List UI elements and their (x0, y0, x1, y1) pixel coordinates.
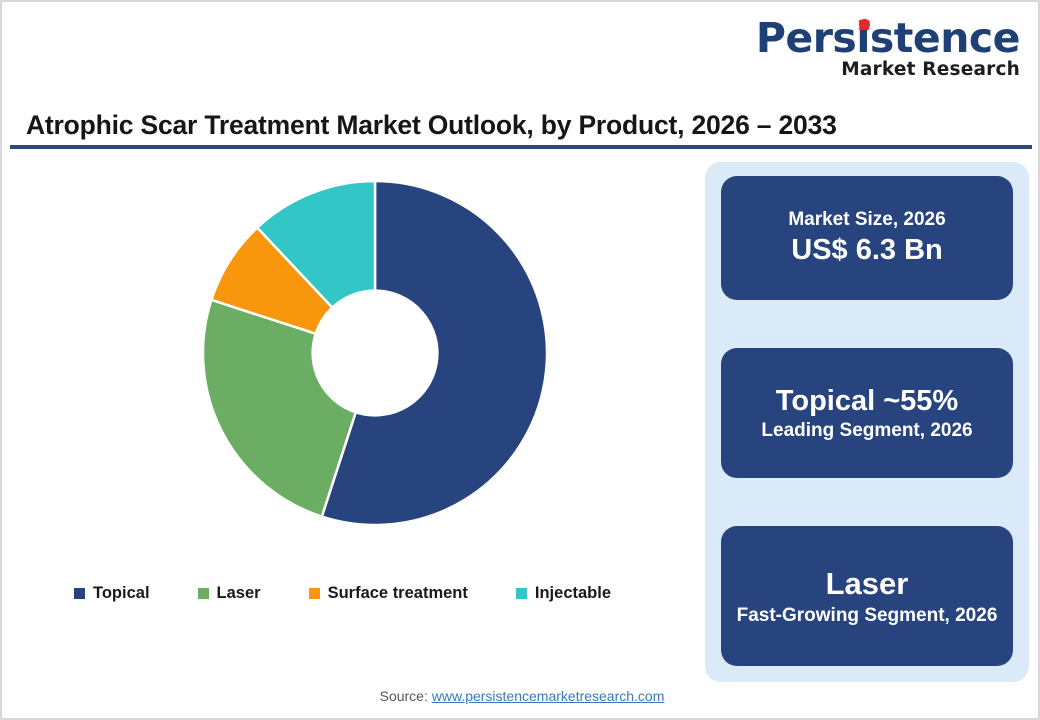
legend-label-topical: Topical (93, 584, 150, 603)
donut-svg (200, 178, 550, 528)
brand-tagline: Market Research (756, 61, 1020, 80)
source-note: Source: www.persistencemarketresearch.co… (2, 688, 1040, 704)
legend-item-topical[interactable]: Topical (74, 584, 150, 603)
brand-name: Persistence (756, 18, 1020, 59)
kpi-card-fast-growing-segment[interactable]: Laser Fast-Growing Segment, 2026 (721, 526, 1013, 666)
donut-chart (200, 178, 550, 528)
source-label: Source: (380, 688, 428, 704)
chart-area (14, 162, 694, 562)
source-link[interactable]: www.persistencemarketresearch.com (432, 688, 665, 704)
legend-swatch-topical (74, 588, 85, 599)
kpi-card-market-size-line2: US$ 6.3 Bn (791, 232, 943, 268)
legend-swatch-laser (198, 588, 209, 599)
kpi-card-fast-growing-segment-line2: Fast-Growing Segment, 2026 (737, 604, 998, 628)
infographic-page: Persistence Market Research Atrophic Sca… (0, 0, 1040, 720)
legend-item-surface-treatment[interactable]: Surface treatment (309, 584, 468, 603)
kpi-card-fast-growing-segment-line1: Laser (826, 565, 909, 604)
kpi-card-leading-segment[interactable]: Topical ~55% Leading Segment, 2026 (721, 348, 1013, 478)
legend-label-injectable: Injectable (535, 584, 611, 603)
legend-label-laser: Laser (217, 584, 261, 603)
brand-starburst-icon (859, 19, 870, 30)
chart-legend: Topical Laser Surface treatment Injectab… (62, 580, 682, 606)
page-title: Atrophic Scar Treatment Market Outlook, … (26, 110, 837, 141)
legend-label-surface-treatment: Surface treatment (328, 584, 468, 603)
legend-swatch-injectable (516, 588, 527, 599)
kpi-card-leading-segment-line1: Topical ~55% (776, 383, 958, 419)
kpi-card-market-size[interactable]: Market Size, 2026 US$ 6.3 Bn (721, 176, 1013, 300)
title-divider (10, 145, 1032, 149)
kpi-card-market-size-line1: Market Size, 2026 (788, 208, 945, 232)
legend-item-injectable[interactable]: Injectable (516, 584, 611, 603)
donut-slice-laser[interactable] (203, 300, 356, 517)
kpi-card-leading-segment-line2: Leading Segment, 2026 (761, 419, 972, 443)
legend-item-laser[interactable]: Laser (198, 584, 261, 603)
legend-swatch-surface-treatment (309, 588, 320, 599)
brand-logo: Persistence Market Research (756, 18, 1020, 80)
kpi-panel: Market Size, 2026 US$ 6.3 Bn Topical ~55… (705, 162, 1029, 682)
